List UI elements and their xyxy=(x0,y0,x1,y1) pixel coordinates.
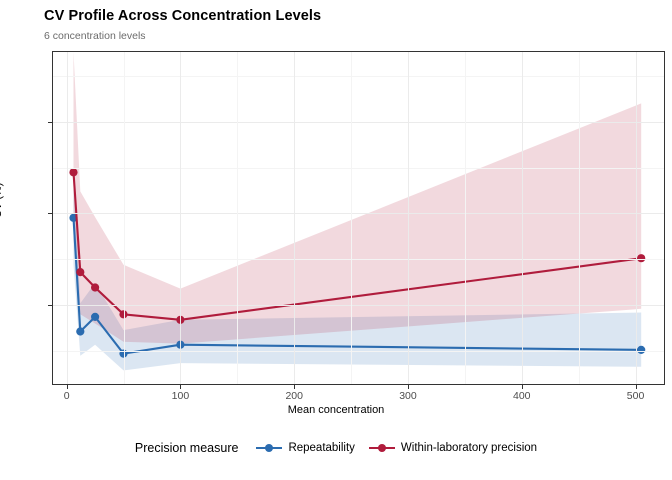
x-tick-mark xyxy=(408,385,409,389)
data-point xyxy=(69,168,77,176)
legend-point-icon xyxy=(378,444,386,452)
confidence-ribbon-within-laboratory-precision xyxy=(74,52,642,344)
x-tick-label: 0 xyxy=(64,390,70,402)
grid-line-vertical-minor xyxy=(124,52,125,384)
grid-line-vertical xyxy=(522,52,523,384)
x-tick-label: 300 xyxy=(399,390,417,402)
grid-line-vertical xyxy=(67,52,68,384)
page-title: CV Profile Across Concentration Levels xyxy=(44,8,321,24)
data-point xyxy=(91,313,99,321)
plot-panel xyxy=(52,51,665,385)
x-tick-label: 500 xyxy=(627,390,645,402)
grid-line-vertical xyxy=(408,52,409,384)
grid-line-vertical-minor xyxy=(579,52,580,384)
grid-line-vertical-minor xyxy=(465,52,466,384)
x-tick-label: 100 xyxy=(172,390,190,402)
legend-label-repeatability: Repeatability xyxy=(288,442,354,454)
x-tick-label: 200 xyxy=(285,390,303,402)
grid-line-vertical xyxy=(294,52,295,384)
x-tick-label: 400 xyxy=(513,390,531,402)
grid-line-horizontal-minor xyxy=(53,351,664,352)
legend-point-icon xyxy=(265,444,273,452)
data-point xyxy=(91,283,99,291)
grid-line-horizontal-minor xyxy=(53,259,664,260)
legend-item-within-laboratory-precision[interactable]: Within-laboratory precision xyxy=(369,440,537,456)
grid-line-horizontal xyxy=(53,213,664,214)
legend-key-within-laboratory-icon xyxy=(369,440,395,456)
plot-subtitle: 6 concentration levels xyxy=(44,30,146,42)
grid-line-horizontal-minor xyxy=(53,168,664,169)
grid-line-vertical-minor xyxy=(351,52,352,384)
legend-title: Precision measure xyxy=(135,441,239,455)
x-tick-mark xyxy=(636,385,637,389)
grid-line-vertical-minor xyxy=(237,52,238,384)
data-point xyxy=(637,254,645,262)
grid-line-horizontal xyxy=(53,122,664,123)
x-axis-title: Mean concentration xyxy=(0,404,672,416)
grid-line-vertical xyxy=(180,52,181,384)
grid-line-horizontal xyxy=(53,305,664,306)
x-tick-mark xyxy=(180,385,181,389)
x-tick-mark xyxy=(294,385,295,389)
data-point xyxy=(637,346,645,354)
data-point xyxy=(76,327,84,335)
plot-area xyxy=(53,52,664,384)
chart-root: CV Profile Across Concentration Levels 6… xyxy=(0,0,672,480)
legend-key-repeatability-icon xyxy=(256,440,282,456)
data-point xyxy=(76,268,84,276)
legend: Precision measure Repeatability Within-l… xyxy=(0,440,672,456)
grid-line-horizontal-minor xyxy=(53,76,664,77)
y-axis-title: CV (%) xyxy=(0,183,4,218)
x-tick-mark xyxy=(522,385,523,389)
x-tick-mark xyxy=(67,385,68,389)
grid-line-vertical xyxy=(636,52,637,384)
legend-item-repeatability[interactable]: Repeatability xyxy=(256,440,354,456)
legend-label-within-laboratory-precision: Within-laboratory precision xyxy=(401,442,537,454)
